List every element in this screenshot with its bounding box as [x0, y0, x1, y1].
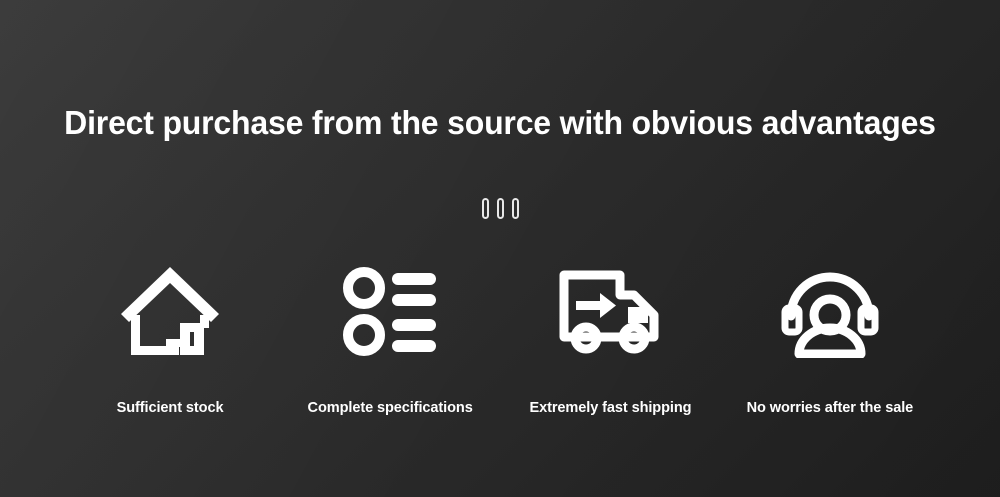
divider-pip-1 — [482, 198, 489, 219]
customer-service-headset-icon — [780, 258, 880, 363]
divider-pip-2 — [497, 198, 504, 219]
divider-pip-3 — [512, 198, 519, 219]
feature-item-sufficient-stock: Sufficient stock — [60, 258, 280, 417]
feature-item-after-sale-service: No worries after the sale — [720, 258, 940, 417]
feature-label: Sufficient stock — [117, 399, 224, 417]
advantages-banner: Direct purchase from the source with obv… — [0, 0, 1000, 497]
feature-label: Complete specifications — [307, 399, 472, 417]
specification-list-icon — [340, 258, 440, 363]
feature-list: Sufficient stock Complet — [60, 258, 940, 417]
three-pill-divider — [0, 198, 1000, 219]
feature-label: No worries after the sale — [747, 399, 914, 417]
feature-item-complete-specifications: Complete specifications — [280, 258, 500, 417]
delivery-truck-icon — [558, 258, 662, 363]
page-title: Direct purchase from the source with obv… — [15, 103, 985, 143]
feature-item-fast-shipping: Extremely fast shipping — [500, 258, 720, 417]
warehouse-house-boxes-icon — [118, 258, 222, 363]
feature-label: Extremely fast shipping — [529, 399, 691, 417]
